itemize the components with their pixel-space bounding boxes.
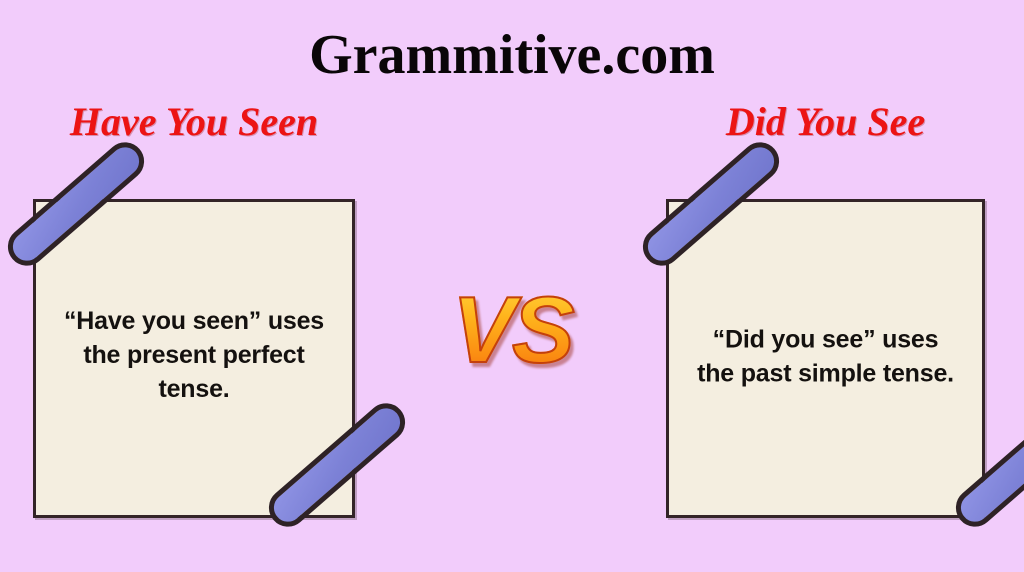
- left-column-heading: Have You Seen: [33, 98, 355, 146]
- right-card: “Did you see” uses the past simple tense…: [666, 199, 985, 518]
- left-card-body: “Have you seen” uses the present perfect…: [61, 303, 326, 405]
- right-column-heading: Did You See: [666, 98, 985, 146]
- comparison-graphic: Grammitive.com Have You Seen Did You See…: [0, 0, 1024, 572]
- right-card-body: “Did you see” uses the past simple tense…: [694, 322, 957, 390]
- versus-label: VS: [452, 283, 571, 377]
- site-title: Grammitive.com: [0, 22, 1024, 88]
- versus-badge: VS: [430, 268, 594, 392]
